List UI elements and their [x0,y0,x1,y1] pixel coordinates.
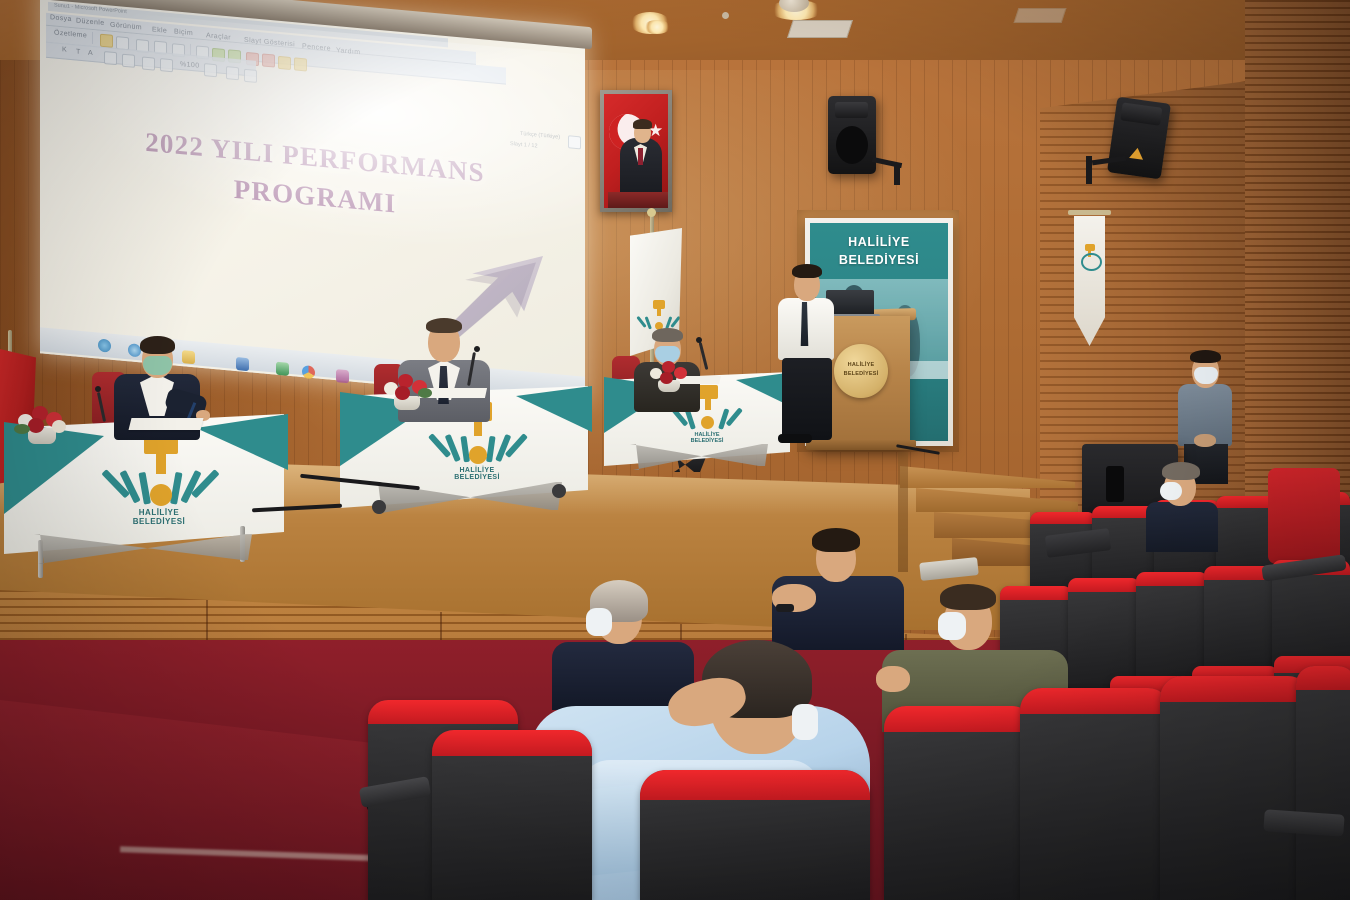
lectern-badge-line-1: HALİLİYE [834,361,888,370]
left-flower-arrangement [14,400,70,444]
speaker-horn-right [1120,102,1162,125]
seat-front-right-2 [1020,688,1170,900]
ataturk-portrait: ★ [600,90,672,212]
taskbar-chrome-icon[interactable] [302,365,315,379]
seat-front-right-trim-3 [1160,676,1310,702]
standing-right-hands [1194,434,1216,447]
banner-line-2: BELEDİYESİ [839,253,919,267]
audience-4-mask [938,612,966,640]
center-logo-ray-3 [460,436,470,463]
audience-2-watch [776,604,794,612]
wall-speaker-right [1107,97,1171,180]
center-logo-ray-2 [445,434,461,462]
audience-5-jacket [1146,502,1218,552]
flag-logo-stem [657,308,661,316]
seat-row-back-red-cushion [1268,468,1340,564]
subwoofer-port [1106,466,1124,502]
pennant-logo-ring [1081,253,1102,271]
microphone-right-head [696,337,702,343]
speaker-podium-shoe [778,434,812,443]
speaker-horn-left [835,102,868,118]
standing-right-hair [1190,350,1221,363]
ceiling-vent [787,20,853,38]
seat-front-right-3 [1160,676,1310,900]
center-table-logo-text: HALİLİYE BELEDİYESİ [438,467,516,481]
center-flower-4 [395,386,410,400]
right-flower-3 [674,367,687,379]
seat-trim-1 [1030,512,1096,524]
seat-back-m4 [1204,566,1276,680]
ceiling-light-2 [644,20,670,34]
speaker-podium-hair [792,264,822,278]
left-logo-stem [156,452,166,474]
audience-5-hair [1162,462,1200,480]
seat-front-left-trim-2 [432,730,592,756]
taskbar-app-icon[interactable] [336,369,349,383]
standing-right-mask [1194,367,1218,384]
center-table-wheel-1 [372,500,386,514]
panelist-left-mask [143,356,172,375]
portrait-image: ★ [604,94,668,208]
left-flower-5 [52,420,66,433]
audience-2-hair [812,528,860,552]
taskbar-word-icon[interactable] [236,357,249,371]
center-logo-ray-4 [486,436,496,463]
pennant-rod [1068,210,1111,215]
audience-1-mask [586,608,612,636]
left-table-papers [129,418,204,430]
left-table-logo: HALİLİYE BELEDİYESİ [114,428,204,524]
screen-glare [40,5,585,275]
microphone-center-head [474,346,480,352]
taskbar-excel-icon[interactable] [276,362,289,376]
seat-trim-m2 [1068,578,1140,592]
microphone-left-head [95,386,101,392]
right-flower-arrangement [648,358,692,392]
left-flower-4 [28,418,44,433]
portrait-desk [608,192,668,208]
speaker-woofer-left [836,126,868,164]
seat-front-right-trim-1 [884,706,1034,732]
left-logo-center-dot [150,484,172,506]
seat-front-left-trim-1 [368,700,518,724]
portrait-tie [638,148,643,165]
wall-speaker-left [828,96,876,174]
seat-trim-m3 [1136,572,1208,586]
panelist-center-hair [426,318,462,333]
ceiling-vent-2 [1014,8,1067,23]
center-flower-arrangement [382,370,434,410]
left-table-logo-text: HALİLİYE BELEDİYESİ [114,508,204,526]
pennant-logo [1079,244,1100,270]
banner-line-1: HALİLİYE [848,235,910,249]
audience-5 [1140,460,1230,550]
speaker-brand-icon [1129,147,1144,160]
speaker-bracket-right-post [1086,156,1092,184]
lectern-badge: HALİLİYE BELEDİYESİ [834,344,888,398]
audience-3-mask [792,704,818,740]
seat-front-right-4 [1296,666,1350,900]
municipal-flag-finial [647,208,656,217]
center-flower-leaf [418,388,432,398]
center-table-wheel-2 [552,484,566,498]
seat-front-right-1 [884,706,1034,900]
audience-4-hair [940,584,996,610]
panelist-right-hair [652,328,683,342]
center-logo-center-dot [469,446,487,464]
seat-front-right-trim-2 [1020,688,1170,714]
seat-front-center-trim [640,770,870,800]
right-flower-4 [660,372,673,384]
speaker-podium [772,262,842,444]
auditorium-photo: Sunu1 - Microsoft PowerPoint Dosya Düzen… [0,0,1350,900]
seat-front-right-trim-4 [1296,666,1350,690]
portrait-hair [633,119,652,129]
left-logo-ray-3 [138,472,150,505]
left-flower-leaf [14,424,30,434]
lectern-badge-line-2: BELEDİYESİ [834,370,888,379]
speaker-bracket-left-post [894,163,900,185]
ceiling-sensor [722,12,729,19]
audience-5-mask [1160,482,1182,500]
speaker-podium-trousers [782,358,832,440]
panelist-left-hair [140,336,175,354]
right-table-logo-text: HALİLİYE BELEDİYESİ [678,432,736,444]
right-logo-center-dot [701,416,714,429]
